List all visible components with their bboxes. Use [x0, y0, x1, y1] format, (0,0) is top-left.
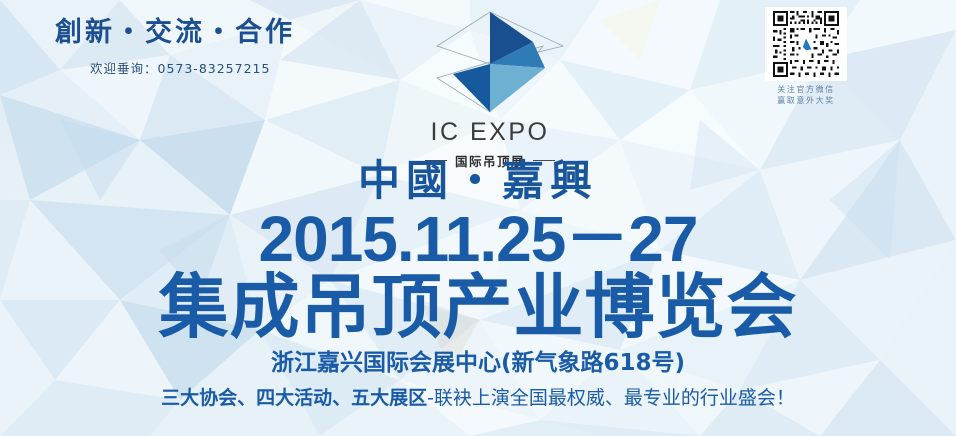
event-date-line: 2015.11.25－27	[0, 206, 956, 273]
contact-phone-text: 欢迎垂询：0573-83257215	[90, 58, 295, 77]
logo-block: IC EXPO 国际吊顶展	[400, 6, 580, 170]
tagline-line: 三大协会、四大活动、五大展区-联袂上演全国最权威、最专业的行业盛会！	[0, 388, 956, 409]
event-title-line: 集成吊顶产业博览会	[0, 271, 956, 345]
qr-block: 关注官方微信 赢取意外大奖	[764, 7, 848, 107]
qr-code-icon[interactable]	[765, 7, 847, 81]
tagline-rest-part: -联袂上演全国最权威、最专业的行业盛会！	[427, 387, 795, 409]
tagline-strong-part: 三大协会、四大活动、五大展区	[161, 387, 427, 409]
expo-banner: 創新・交流・合作 欢迎垂询：0573-83257215 IC EXPO 国际吊顶…	[0, 0, 956, 436]
qr-caption-line-2: 赢取意外大奖	[764, 96, 848, 107]
slogan-block: 創新・交流・合作 欢迎垂询：0573-83257215	[55, 18, 295, 77]
city-line: 中國・嘉興	[0, 160, 956, 202]
ic-expo-diamond-logo-icon	[415, 6, 565, 118]
main-headline-stack: 中國・嘉興 2015.11.25－27 集成吊顶产业博览会 浙江嘉兴国际会展中心…	[0, 160, 956, 409]
logo-wordmark: IC EXPO	[400, 120, 580, 145]
venue-line: 浙江嘉兴国际会展中心(新气象路618号)	[0, 351, 956, 376]
slogan-main-text: 創新・交流・合作	[55, 18, 295, 48]
qr-caption-line-1: 关注官方微信	[764, 85, 848, 96]
